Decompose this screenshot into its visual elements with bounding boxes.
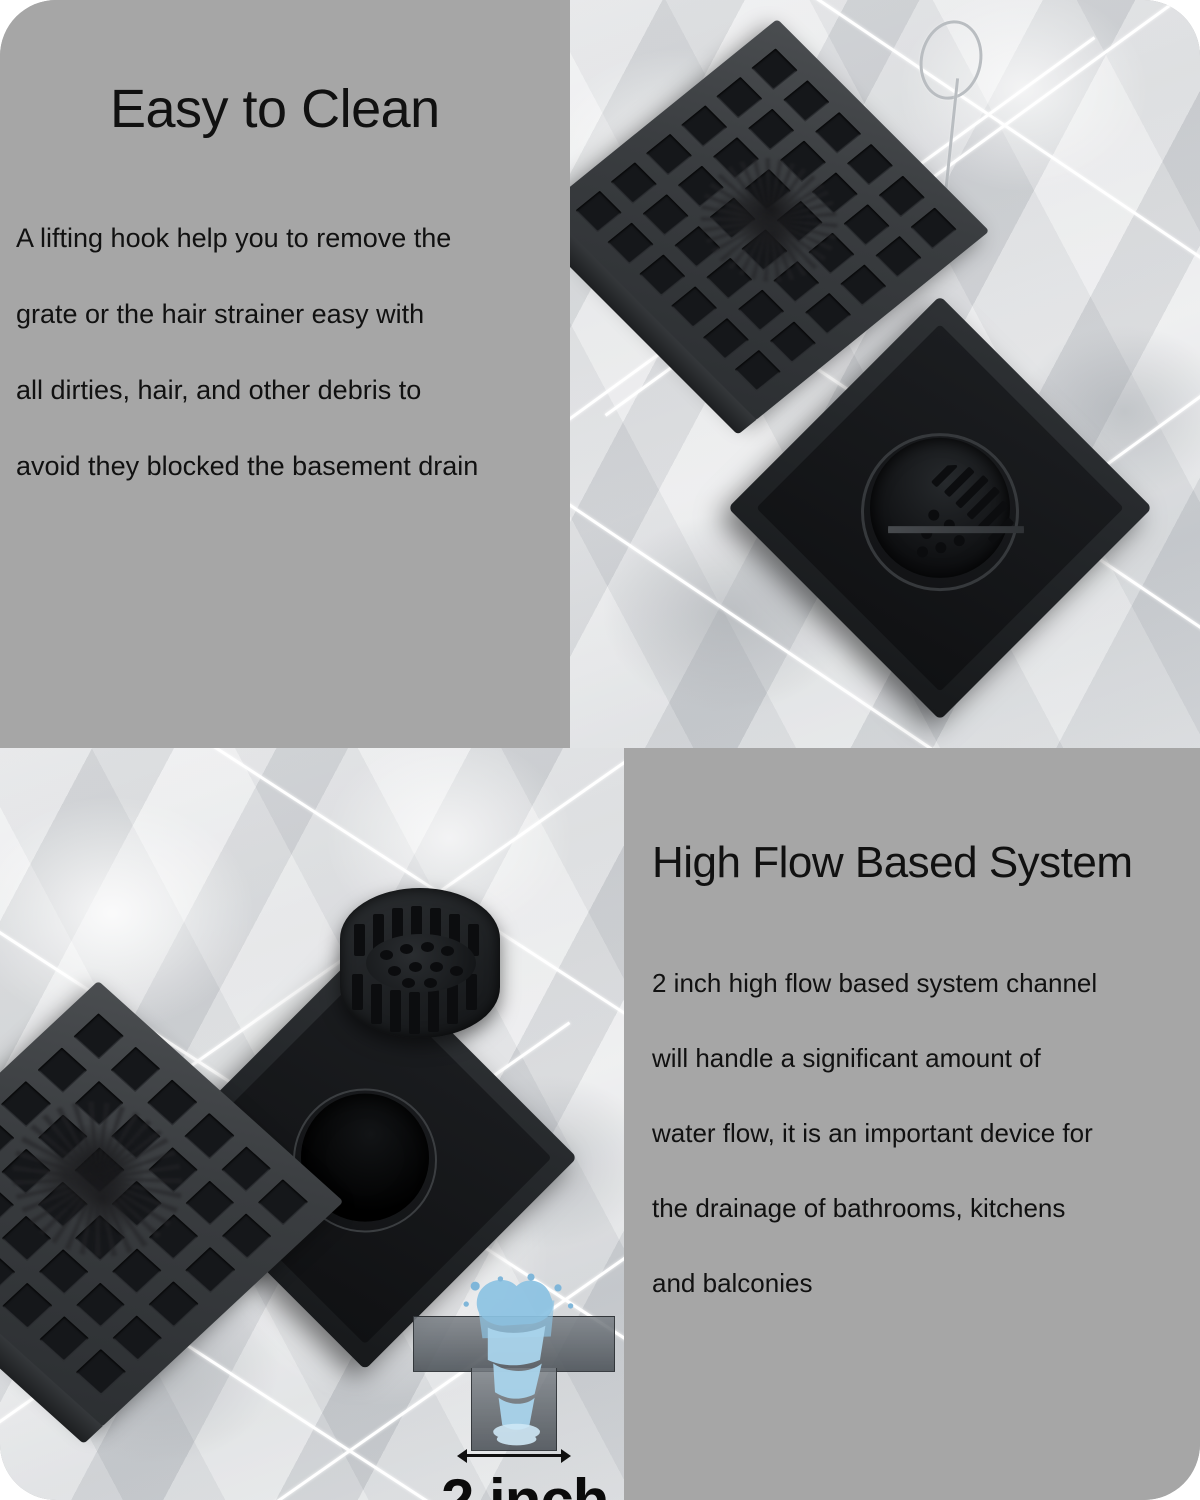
panel-high-flow-based-system: High Flow Based System 2 inch high flow … [624,748,1200,1500]
grate-hole [37,1047,87,1093]
grate-hole [221,1146,271,1192]
grate-hole [74,1013,124,1059]
body-line: avoid they blocked the basement drain [16,428,561,504]
body-line: grate or the hair strainer easy with [16,276,561,352]
grate-hole [805,293,851,335]
body-line: 2 inch high flow based system channel [652,946,1200,1021]
grate-hole [748,109,794,151]
grate-hole [738,290,784,332]
grate-hole [681,105,727,147]
panel-body-easy-to-clean: A lifting hook help you to remove the gr… [16,200,561,504]
grate-hole [879,176,925,218]
grate-hole [185,1247,235,1293]
grate-hole [783,80,829,122]
photo-bottom-left-tile-floor: 2 inch [0,748,624,1500]
grate-hole [112,1315,162,1361]
body-line: and balconies [652,1246,1200,1321]
grate-hole [607,223,653,265]
grate-hole [815,112,861,154]
grate-hole [148,1080,198,1126]
grate-hole [703,318,749,360]
two-inch-dimension-callout: 2 inch [405,1278,624,1500]
body-line: water flow, it is an important device fo… [652,1096,1200,1171]
grate-hole [646,134,692,176]
grate-hole [844,204,890,246]
strainer-basket-icon [340,878,510,1058]
grate-hole [639,254,685,296]
grate-hole [2,1283,52,1329]
photo-top-right-tile-floor [570,0,1200,748]
grate-hole [840,264,886,306]
body-line: will handle a significant amount of [652,1021,1200,1096]
grate-hole [149,1281,199,1327]
grate-hole [185,1113,235,1159]
grate-hole [671,286,717,328]
body-line: all dirties, hair, and other debris to [16,352,561,428]
grate-hole [847,144,893,186]
grate-hole [770,321,816,363]
grate-hole [39,1316,89,1362]
grate-hole [716,77,762,119]
body-line: the drainage of bathrooms, kitchens [652,1171,1200,1246]
grate-hole [0,1183,15,1229]
grate-hole [39,1249,89,1295]
dimension-label: 2 inch [441,1466,608,1500]
body-line: A lifting hook help you to remove the [16,200,561,276]
panel-title-easy-to-clean: Easy to Clean [110,78,440,140]
water-splash-icon [423,1268,603,1468]
grate-hole [222,1213,272,1259]
grate-hole [735,350,781,392]
dimension-line-icon [465,1454,563,1457]
grate-hole [643,194,689,236]
grate-hole [0,1250,15,1296]
grate-hole [576,191,622,233]
panel-title-high-flow-based-system: High Flow Based System [652,838,1133,888]
strainer-floor-holes-icon [366,934,476,992]
panel-easy-to-clean: Easy to Clean A lifting hook help you to… [0,0,570,748]
grate-hole [911,207,957,249]
grate-hole [611,162,657,204]
grate-hole [751,48,797,90]
grate-hole [0,1115,14,1161]
grate-hole [76,1349,126,1395]
grate-hole [76,1282,126,1328]
infographic-board: Easy to Clean A lifting hook help you to… [0,0,1200,1500]
panel-body-high-flow-based-system: 2 inch high flow based system channel wi… [652,946,1200,1321]
grate-hole [111,1047,161,1093]
grate-hole [875,236,921,278]
grate-hole [185,1180,235,1226]
dimension-arrow-right-icon [561,1449,571,1463]
grate-hole [258,1179,308,1225]
